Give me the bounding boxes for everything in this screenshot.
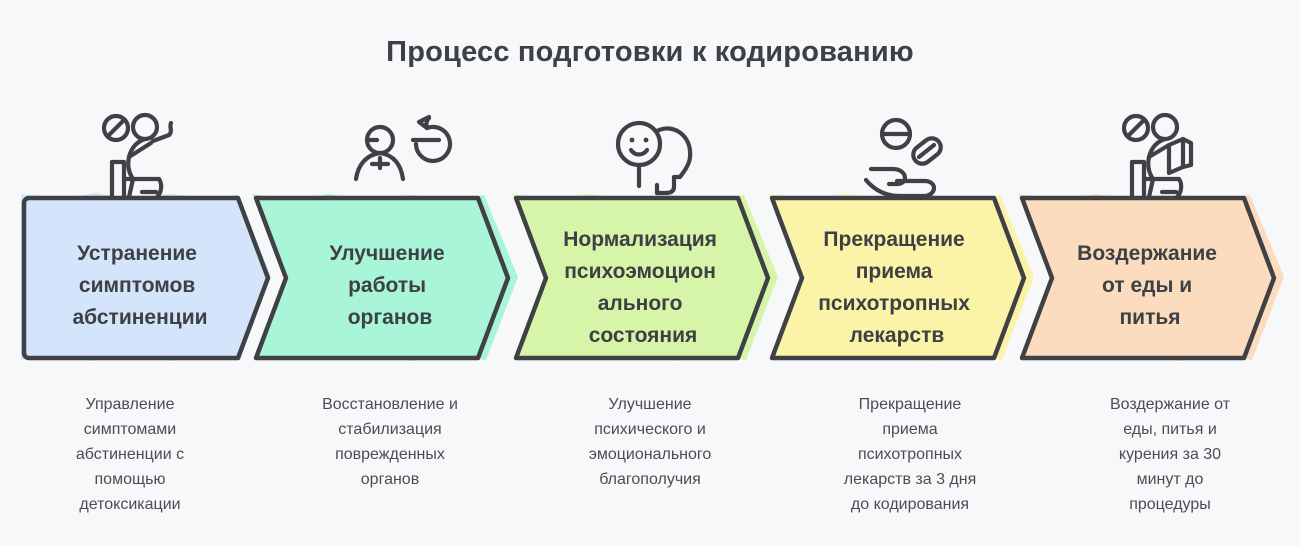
caption-line: психического и: [546, 417, 754, 442]
step-2-caption: Восстановление и стабилизация поврежденн…: [260, 392, 520, 542]
no-eating-seated-person-icon: [1124, 115, 1191, 197]
caption-line: минут до: [1066, 467, 1274, 492]
caption-line: до кодирования: [806, 492, 1014, 517]
caption-line: эмоционального: [546, 442, 754, 467]
process-step-5[interactable]: Воздержание от еды и питья: [1018, 194, 1284, 361]
caption-line: Восстановление и: [286, 392, 494, 417]
page-title: Процесс подготовки к кодированию: [0, 36, 1300, 69]
head-profile-smiley-icon: [618, 123, 690, 193]
caption-line: Прекращение: [806, 392, 1014, 417]
caption-line: помощью: [26, 467, 234, 492]
caption-line: благополучия: [546, 467, 754, 492]
caption-line: Управление: [26, 392, 234, 417]
step-4-caption: Прекращение приема психотропных лекарств…: [780, 392, 1040, 542]
caption-line: приема: [806, 417, 1014, 442]
caption-line: Воздержание от: [1066, 392, 1274, 417]
caption-line: стабилизация: [286, 417, 494, 442]
caption-line: симптомами: [26, 417, 234, 442]
caption-line: органов: [286, 467, 494, 492]
caption-line: психотропных: [806, 442, 1014, 467]
flow-svg: Устранение симптомов абстиненции Улучшен…: [0, 100, 1300, 375]
step-3-caption: Улучшение психического и эмоционального …: [520, 392, 780, 542]
caption-line: Улучшение: [546, 392, 754, 417]
caption-line: детоксикации: [26, 492, 234, 517]
person-recovery-refresh-icon: [356, 117, 450, 179]
process-step-1[interactable]: Устранение симптомов абстиненции: [21, 193, 271, 361]
captions-row: Управление симптомами абстиненции с помо…: [0, 392, 1300, 542]
step-5-caption: Воздержание от еды, питья и курения за 3…: [1040, 392, 1300, 542]
caption-line: еды, питья и: [1066, 417, 1274, 442]
process-step-3[interactable]: Нормализация психоэмоцион ального состоя…: [512, 194, 778, 361]
step-1-label: Устранение симптомов абстиненции: [72, 242, 207, 329]
caption-line: поврежденных: [286, 442, 494, 467]
caption-line: лекарств за 3 дня: [806, 467, 1014, 492]
process-flow-diagram: Устранение симптомов абстиненции Улучшен…: [0, 100, 1300, 375]
caption-line: абстиненции с: [26, 442, 234, 467]
process-step-4[interactable]: Прекращение приема психотропных лекарств: [768, 194, 1034, 361]
process-step-2[interactable]: Улучшение работы органов: [252, 194, 518, 361]
hand-holding-pills-icon: [866, 120, 944, 196]
caption-line: курения за 30: [1066, 442, 1274, 467]
caption-line: процедуры: [1066, 492, 1274, 517]
no-smoking-seated-person-icon: [104, 115, 171, 197]
step-1-caption: Управление симптомами абстиненции с помо…: [0, 392, 260, 542]
